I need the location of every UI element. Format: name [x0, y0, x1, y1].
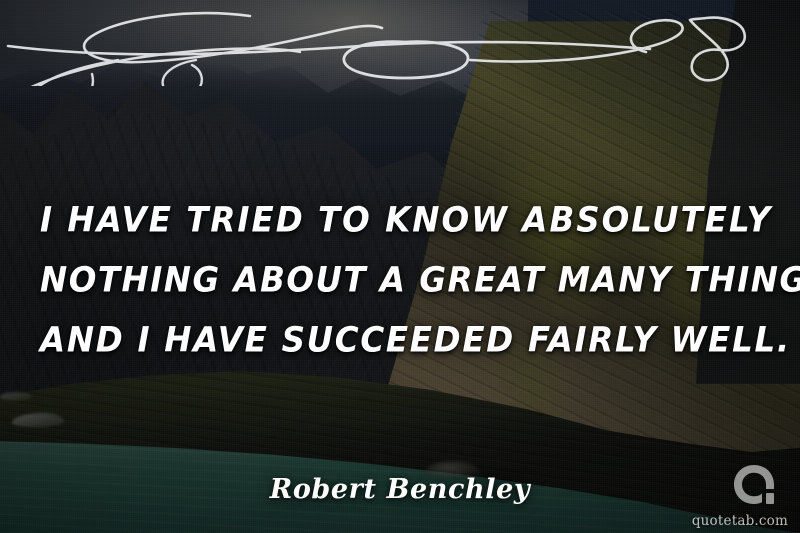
quote-card: I HAVE TRIED TO KNOW ABSOLUTELY NOTHING …	[0, 0, 800, 533]
flourish-ornament-icon	[0, 2, 800, 86]
brand-site-label[interactable]: quotetab.com	[692, 513, 788, 529]
quotetab-q-logo-icon[interactable]	[732, 463, 776, 509]
card-content: I HAVE TRIED TO KNOW ABSOLUTELY NOTHING …	[0, 0, 800, 533]
quote-line-1: I HAVE TRIED TO KNOW ABSOLUTELY	[40, 188, 760, 252]
quote-text: I HAVE TRIED TO KNOW ABSOLUTELY NOTHING …	[40, 190, 760, 370]
author-name: Robert Benchley	[0, 474, 800, 505]
brand-watermark[interactable]: quotetab.com	[694, 463, 790, 531]
quote-line-2: NOTHING ABOUT A GREAT MANY THINGS,	[40, 248, 760, 312]
quote-line-3: AND I HAVE SUCCEEDED FAIRLY WELL.	[40, 308, 760, 372]
